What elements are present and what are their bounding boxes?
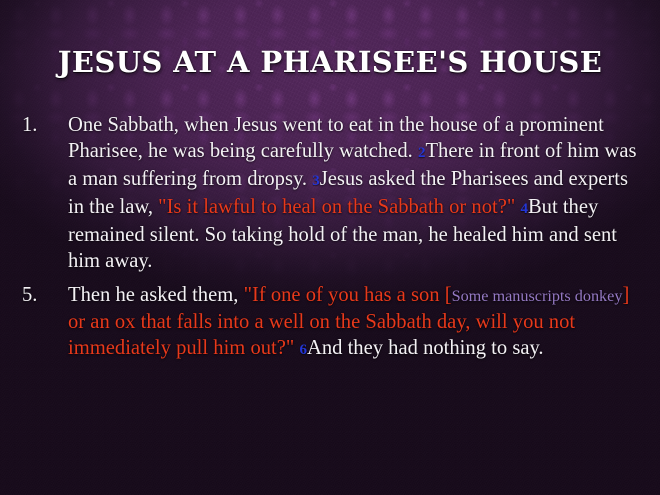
slide-body-list: 1. One Sabbath, when Jesus went to eat i… <box>22 112 642 363</box>
verse-number: 3 <box>312 173 320 189</box>
scripture-paragraph: 5. Then he asked them, "If one of you ha… <box>22 282 642 363</box>
paragraph-text: One Sabbath, when Jesus went to eat in t… <box>68 112 642 275</box>
presentation-slide: JESUS AT A PHARISEE'S HOUSE 1. One Sabba… <box>0 0 660 495</box>
verse-number: 4 <box>520 201 528 217</box>
paragraph-text: Then he asked them, "If one of you has a… <box>68 282 642 363</box>
red-quote-run: [ <box>445 284 452 306</box>
body-text-run: Then he asked them, <box>68 284 244 306</box>
slide-title: JESUS AT A PHARISEE'S HOUSE <box>0 48 660 77</box>
list-marker: 1. <box>22 112 68 138</box>
body-text-run: And they had nothing to say. <box>307 337 544 359</box>
red-quote-run: "If one of you has a son <box>244 284 445 306</box>
list-marker: 5. <box>22 282 68 308</box>
scripture-paragraph: 1. One Sabbath, when Jesus went to eat i… <box>22 112 642 275</box>
verse-number: 6 <box>299 342 307 358</box>
manuscript-note-run: Some manuscripts donkey <box>452 287 623 305</box>
red-quote-run: "Is it lawful to heal on the Sabbath or … <box>158 196 520 218</box>
slide-content: JESUS AT A PHARISEE'S HOUSE 1. One Sabba… <box>0 0 660 495</box>
